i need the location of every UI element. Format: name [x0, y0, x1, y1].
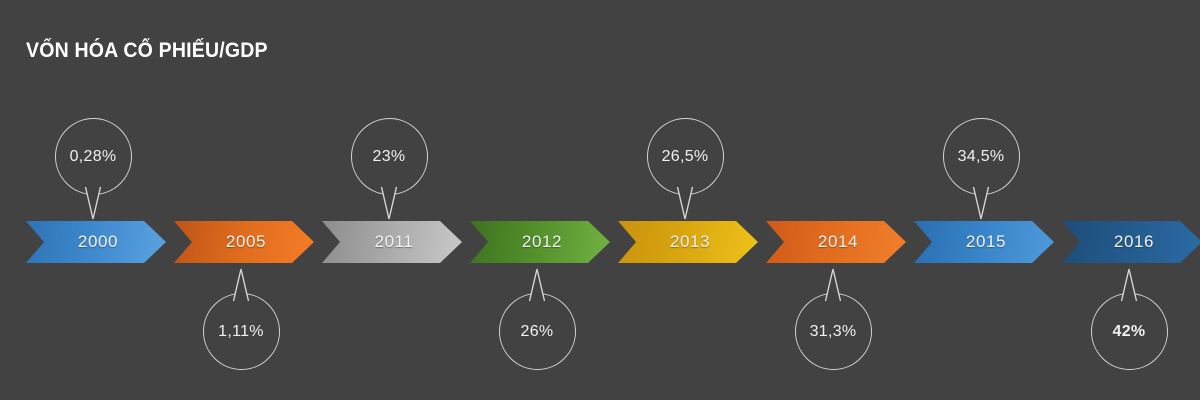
- timeline-step-year-label: 2015: [962, 232, 1006, 252]
- timeline-step-2016[interactable]: 2016: [1062, 221, 1200, 263]
- value-callout-bubble: 34,5%: [943, 118, 1020, 195]
- timeline-step-2011[interactable]: 2011: [322, 221, 462, 263]
- value-callout-label: 34,5%: [958, 148, 1005, 166]
- value-callout-label: 26%: [521, 323, 554, 341]
- value-callout-bubble: 0,28%: [55, 118, 132, 195]
- value-callout-2016: 42%: [1091, 293, 1168, 370]
- value-callout-2013: 26,5%: [647, 118, 724, 195]
- value-callout-2015: 34,5%: [943, 118, 1020, 195]
- value-callout-bubble: 23%: [351, 118, 428, 195]
- timeline-step-year-label: 2000: [74, 232, 118, 252]
- value-callout-pointer-icon: [820, 268, 846, 302]
- value-callout-label: 1,11%: [218, 323, 264, 341]
- value-callout-pointer-icon: [80, 186, 106, 220]
- value-callout-pointer-icon: [228, 268, 254, 302]
- timeline-step-2013[interactable]: 2013: [618, 221, 758, 263]
- value-callout-bubble: 42%: [1091, 293, 1168, 370]
- timeline-strip: 20002005201120122013201420152016: [0, 221, 1200, 263]
- timeline-step-year-label: 2011: [371, 232, 414, 252]
- timeline-step-2005[interactable]: 2005: [174, 221, 314, 263]
- timeline-step-year-label: 2012: [518, 232, 562, 252]
- timeline-step-2000[interactable]: 2000: [26, 221, 166, 263]
- value-callout-label: 42%: [1113, 323, 1146, 341]
- value-callout-bubble: 31,3%: [795, 293, 872, 370]
- value-callout-2014: 31,3%: [795, 293, 872, 370]
- timeline-step-2015[interactable]: 2015: [914, 221, 1054, 263]
- value-callout-2005: 1,11%: [203, 293, 280, 370]
- value-callout-label: 31,3%: [810, 323, 857, 341]
- value-callout-bubble: 26%: [499, 293, 576, 370]
- value-callout-pointer-icon: [1116, 268, 1142, 302]
- value-callout-2000: 0,28%: [55, 118, 132, 195]
- value-callout-bubble: 26,5%: [647, 118, 724, 195]
- value-callout-label: 0,28%: [70, 148, 117, 166]
- value-callout-pointer-icon: [672, 186, 698, 220]
- value-callout-pointer-icon: [524, 268, 550, 302]
- timeline-step-year-label: 2013: [666, 232, 710, 252]
- infographic-canvas: VỐN HÓA CỔ PHIẾU/GDP 2000200520112012201…: [0, 0, 1200, 400]
- value-callout-2012: 26%: [499, 293, 576, 370]
- value-callout-pointer-icon: [968, 186, 994, 220]
- timeline-step-year-label: 2005: [222, 232, 266, 252]
- timeline-step-2014[interactable]: 2014: [766, 221, 906, 263]
- page-title: VỐN HÓA CỔ PHIẾU/GDP: [26, 39, 268, 63]
- timeline-step-year-label: 2014: [814, 232, 858, 252]
- timeline-step-year-label: 2016: [1110, 232, 1154, 252]
- value-callout-label: 23%: [373, 148, 406, 166]
- value-callout-2011: 23%: [351, 118, 428, 195]
- value-callout-label: 26,5%: [662, 148, 709, 166]
- timeline-step-2012[interactable]: 2012: [470, 221, 610, 263]
- value-callout-pointer-icon: [376, 186, 402, 220]
- value-callout-bubble: 1,11%: [203, 293, 280, 370]
